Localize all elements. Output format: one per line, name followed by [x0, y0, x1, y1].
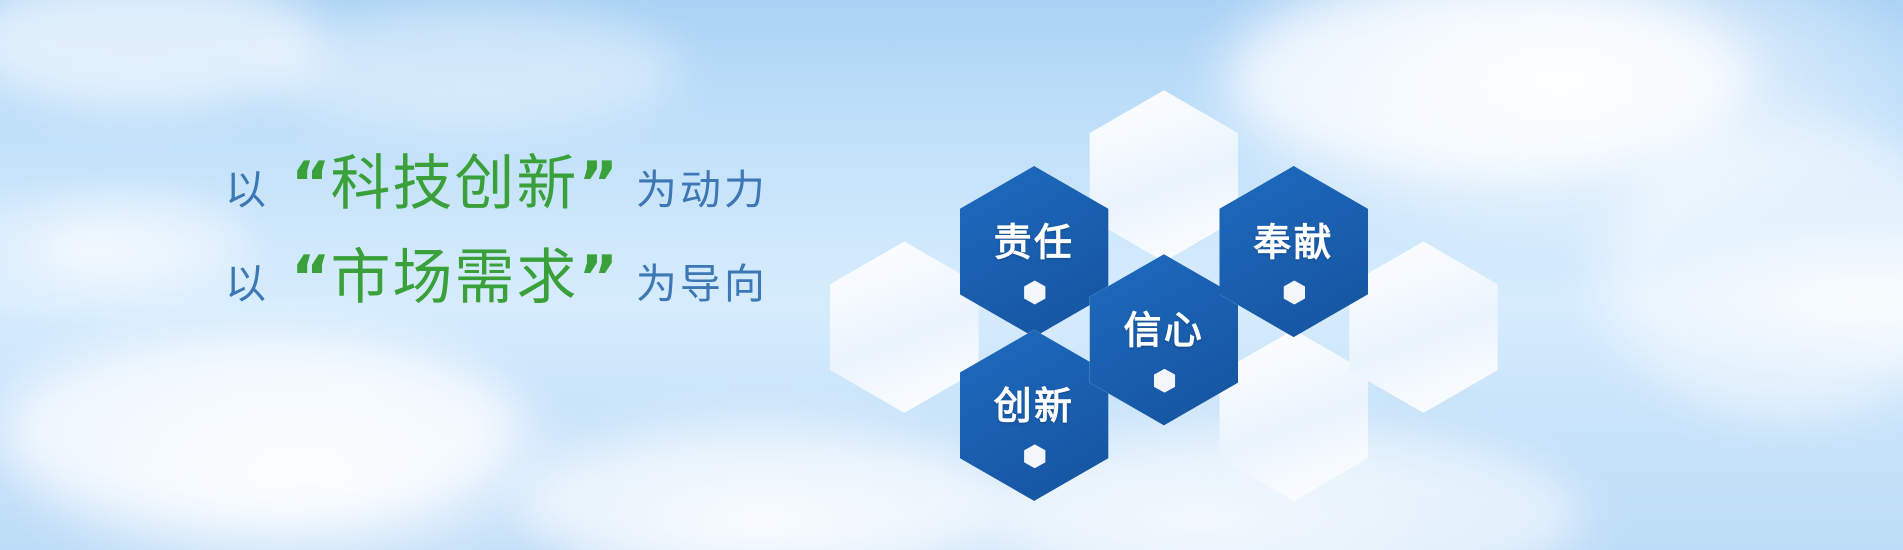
hexagon-value-innovation-label: 创新: [994, 375, 1075, 430]
headline-line-2-quote-open: “: [291, 243, 330, 313]
green-earth-globe-photo-icon: [1090, 90, 1239, 261]
hexagon-photo-earth: [1090, 90, 1239, 261]
business-team-thumbs-up-photo-icon: [1349, 241, 1498, 412]
hexagon-value-dedication-label: 奉献: [1253, 211, 1334, 266]
green-trees-in-hand-photo-icon: [1219, 330, 1368, 501]
hexagon-value-dedication[interactable]: 奉献: [1219, 166, 1368, 337]
hexagon-photo-city: [830, 241, 979, 412]
headline-line-2-keyword: 市场需求: [330, 229, 578, 316]
hexagon-value-dedication-fill: 奉献: [1219, 166, 1368, 337]
headline-line-1-suffix: 为动力: [636, 156, 768, 216]
corporate-banner: 以 “ 科技创新 ” 为动力 以 “ 市场需求 ” 为导向: [0, 0, 1903, 550]
hexagon-value-innovation-fill: 创新: [960, 330, 1109, 501]
hexagon-cluster: 责任 创新 信心 奉献: [830, 55, 1561, 483]
headline-line-1-keyword: 科技创新: [330, 135, 578, 222]
cloud-puff: [40, 200, 240, 290]
headline-line-1-prefix: 以: [225, 156, 269, 216]
hexagon-value-responsibility-fill: 责任: [960, 166, 1109, 337]
hexagon-value-confidence-label: 信心: [1124, 299, 1205, 354]
headline-line-2: 以 “ 市场需求 ” 为导向: [225, 229, 768, 321]
hexagon-value-responsibility-label: 责任: [994, 211, 1075, 266]
hexagon-value-responsibility[interactable]: 责任: [960, 166, 1109, 337]
headline-line-2-prefix: 以: [225, 250, 269, 310]
cloud-puff: [0, 0, 320, 110]
headline-line-1: 以 “ 科技创新 ” 为动力: [225, 135, 768, 227]
cloud-puff: [260, 10, 680, 130]
hexagon-photo-team: [1349, 241, 1498, 412]
cloud-puff: [0, 330, 520, 530]
headline-block: 以 “ 科技创新 ” 为动力 以 “ 市场需求 ” 为导向: [225, 135, 768, 321]
cloud-puff: [1600, 120, 1903, 420]
hexagon-value-confidence-fill: 信心: [1090, 254, 1239, 425]
headline-line-2-quote-close: ”: [578, 243, 617, 313]
hexagon-value-innovation[interactable]: 创新: [960, 330, 1109, 501]
hexagon-value-confidence[interactable]: 信心: [1090, 254, 1239, 425]
headline-line-1-quote-close: ”: [578, 149, 617, 219]
headline-line-1-quote-open: “: [291, 149, 330, 219]
city-skyline-photo-icon: [830, 241, 979, 412]
headline-line-2-suffix: 为导向: [636, 250, 768, 310]
hexagon-photo-green: [1219, 330, 1368, 501]
